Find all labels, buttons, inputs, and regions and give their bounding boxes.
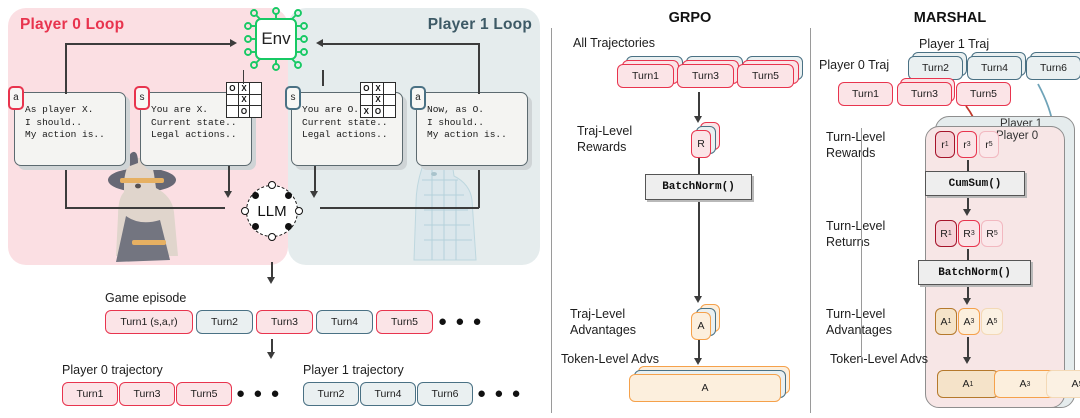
grpo-arrow-head-adv-token <box>694 358 702 365</box>
figure-root: Player 0 Loop Player 1 Loop Env As playe… <box>0 0 1080 418</box>
chat-card-4: Now, as O. I should.. My action is.. <box>416 92 528 166</box>
arrow-p1-to-env-horiz <box>322 43 479 45</box>
marshal-return-2: R3 <box>958 220 980 247</box>
marshal-player1-traj-label: Player 1 Traj <box>919 37 989 52</box>
player0-trajectory-label: Player 0 trajectory <box>62 363 163 378</box>
cell-r1: X <box>373 83 384 94</box>
player0-traj-turn-3: Turn5 <box>176 382 232 406</box>
game-episode-turn-5: Turn5 <box>376 310 433 334</box>
cell-r4: X <box>373 95 384 106</box>
arrow-head-llm-down <box>267 277 275 284</box>
marshal-arrow-head-adv-token <box>963 357 971 364</box>
tag-state-player0: s <box>134 86 150 110</box>
llm-dot-1 <box>252 192 259 199</box>
traj-level-rewards-label-line1: Traj-Level <box>577 124 632 139</box>
llm-dot-2 <box>285 192 292 199</box>
grpo-advantage-token: A <box>691 312 711 340</box>
marshal-line-rewards-to-cumsum <box>967 160 969 171</box>
turn-level-adv-label-line1: Turn-Level <box>826 307 885 322</box>
marshal-reward-1: r1 <box>935 131 955 158</box>
turn-level-rewards-label-line2: Rewards <box>826 146 875 161</box>
player1-loop-title: Player 1 Loop <box>410 16 532 34</box>
marshal-player0-region-label: Player 0 <box>996 130 1038 142</box>
tag-action-player0: a <box>8 86 24 110</box>
grpo-arrow-traj-to-r <box>698 92 700 118</box>
marshal-panel-title: MARSHAL <box>840 10 1060 26</box>
llm-dot-5 <box>268 181 276 189</box>
arrow-head-to-env-left <box>230 39 237 47</box>
divider-left <box>551 28 552 413</box>
grpo-trajectory-turn-2: Turn3 <box>677 64 734 88</box>
game-episode-turn-2: Turn2 <box>196 310 253 334</box>
line-llm-to-p1 <box>320 207 479 209</box>
grpo-token-advantage-bar: A <box>629 374 781 402</box>
llm-dot-7 <box>241 207 249 215</box>
grpo-trajectory-turn-3: Turn5 <box>737 64 794 88</box>
marshal-cumsum-node: CumSum() <box>925 171 1025 196</box>
player0-loop-title: Player 0 Loop <box>20 16 124 34</box>
card-4-line-2: I should.. <box>427 117 519 130</box>
game-episode-turn-1: Turn1 (s,a,r) <box>105 310 193 334</box>
game-episode-label: Game episode <box>105 291 186 306</box>
cell-7: O <box>239 106 250 117</box>
llm-dot-8 <box>295 207 303 215</box>
marshal-reward-3: r5 <box>979 131 999 158</box>
cell-r5 <box>384 95 395 106</box>
grpo-trajectory-turn-1: Turn1 <box>617 64 674 88</box>
grpo-arrow-batchnorm-to-adv <box>698 202 700 298</box>
player1-trajectory-label: Player 1 trajectory <box>303 363 404 378</box>
marshal-return-1: R1 <box>935 220 957 247</box>
marshal-player0-turn-1: Turn1 <box>838 82 893 106</box>
marshal-reward-2: r3 <box>957 131 977 158</box>
cell-4: X <box>239 95 250 106</box>
cell-r6: X <box>361 106 372 117</box>
all-trajectories-label: All Trajectories <box>573 36 655 51</box>
cell-r2 <box>384 83 395 94</box>
marshal-arrow-head-batchnorm-adv <box>963 298 971 305</box>
marshal-player0-traj-label: Player 0 Traj <box>819 58 889 73</box>
card-3-line-3: Legal actions.. <box>302 129 394 142</box>
marshal-advantage-2: A3 <box>958 308 980 335</box>
player1-traj-ellipsis: ● ● ● <box>477 385 523 402</box>
tictactoe-board-left: O X X O <box>226 82 262 118</box>
grpo-batchnorm-node: BatchNorm() <box>645 174 752 200</box>
card-4-stem <box>478 80 480 94</box>
cell-r3 <box>361 95 372 106</box>
card-1-line-3: My action is.. <box>25 129 117 142</box>
cell-3 <box>227 95 238 106</box>
arrow-card2-to-llm <box>228 166 230 193</box>
cell-r7: O <box>373 106 384 117</box>
card-4-line-1: Now, as O. <box>427 104 519 117</box>
marshal-batchnorm-node: BatchNorm() <box>918 260 1031 285</box>
grpo-reward-token: R <box>691 130 711 158</box>
cell-6 <box>227 106 238 117</box>
marshal-player0-turn-2: Turn3 <box>897 82 952 106</box>
arrow-head-card2-llm <box>224 191 232 198</box>
card-4-line-3: My action is.. <box>427 129 519 142</box>
game-episode-turn-4: Turn4 <box>316 310 373 334</box>
turn-level-rewards-label-line1: Turn-Level <box>826 130 885 145</box>
card-3-line-2: Current state.. <box>302 117 394 130</box>
arrow-card3-to-llm <box>314 166 316 193</box>
cell-r8 <box>384 106 395 117</box>
player1-traj-turn-1: Turn2 <box>303 382 359 406</box>
player1-traj-turn-2: Turn4 <box>360 382 416 406</box>
cell-1: X <box>239 83 250 94</box>
grpo-token-level-advs-label: Token-Level Advs <box>561 352 659 367</box>
arrow-head-card3-llm <box>310 191 318 198</box>
marshal-advantage-3: A5 <box>981 308 1003 335</box>
card-1-line-2: I should.. <box>25 117 117 130</box>
player0-traj-turn-1: Turn1 <box>62 382 118 406</box>
marshal-return-3: R5 <box>981 220 1003 247</box>
cell-2 <box>250 83 261 94</box>
line-llm-to-p0 <box>65 207 225 209</box>
card-2-line-2: Current state.. <box>151 117 243 130</box>
player1-traj-turn-3: Turn6 <box>417 382 473 406</box>
grpo-line-r-to-batchnorm <box>698 158 700 174</box>
turn-level-adv-label-line2: Advantages <box>826 323 892 338</box>
grpo-arrow-head-batchnorm-adv <box>694 296 702 303</box>
arrow-head-to-env-right <box>316 39 323 47</box>
marshal-player0-turn-3: Turn5 <box>956 82 1011 106</box>
turn-level-returns-label-line1: Turn-Level <box>826 219 885 234</box>
grpo-panel-title: GRPO <box>580 10 800 26</box>
tag-state-player1: s <box>285 86 301 110</box>
game-episode-ellipsis: ● ● ● <box>438 313 484 330</box>
turn-level-returns-label-line2: Returns <box>826 235 870 250</box>
player0-traj-ellipsis: ● ● ● <box>236 385 282 402</box>
card-1-stem <box>65 80 67 94</box>
llm-dot-4 <box>285 223 292 230</box>
marshal-line-returns-to-batchnorm <box>967 249 969 260</box>
player0-traj-turn-2: Turn3 <box>119 382 175 406</box>
arrow-p0-to-env-horiz <box>65 43 231 45</box>
card-1-line-1: As player X. <box>25 104 117 117</box>
marshal-token-advantage-3: A5 <box>1046 370 1080 398</box>
chat-card-1: As player X. I should.. My action is.. <box>14 92 126 166</box>
marshal-player1-turn-2: Turn4 <box>967 56 1022 80</box>
marshal-token-advantage-1: A1 <box>937 370 999 398</box>
card-2-line-3: Legal actions.. <box>151 129 243 142</box>
marshal-player1-turn-3: Turn6 <box>1026 56 1080 80</box>
marshal-player1-turn-1: Turn2 <box>908 56 963 80</box>
cell-8 <box>250 106 261 117</box>
llm-dot-3 <box>252 223 259 230</box>
cell-r0: O <box>361 83 372 94</box>
cell-0: O <box>227 83 238 94</box>
cell-5 <box>250 95 261 106</box>
traj-level-adv-label-line2: Advantages <box>570 323 636 338</box>
llm-dot-6 <box>268 233 276 241</box>
traj-level-adv-label-line1: Traj-Level <box>570 307 625 322</box>
traj-level-rewards-label-line2: Rewards <box>577 140 626 155</box>
card-3-stem <box>322 70 324 86</box>
marshal-advantage-1: A1 <box>935 308 957 335</box>
divider-right <box>810 28 811 413</box>
board-left-stem <box>243 70 244 84</box>
env-node: Env <box>255 18 297 60</box>
tag-action-player1: a <box>410 86 426 110</box>
marshal-arrow-head-cumsum-returns <box>963 209 971 216</box>
tictactoe-board-right: O X X X O <box>360 82 396 118</box>
arrow-head-episode-down <box>267 352 275 359</box>
game-episode-turn-3: Turn3 <box>256 310 313 334</box>
grpo-arrow-head-traj-r <box>694 116 702 123</box>
marshal-token-level-advs-label: Token-Level Advs <box>830 352 928 367</box>
marshal-left-guide-line <box>861 128 862 358</box>
